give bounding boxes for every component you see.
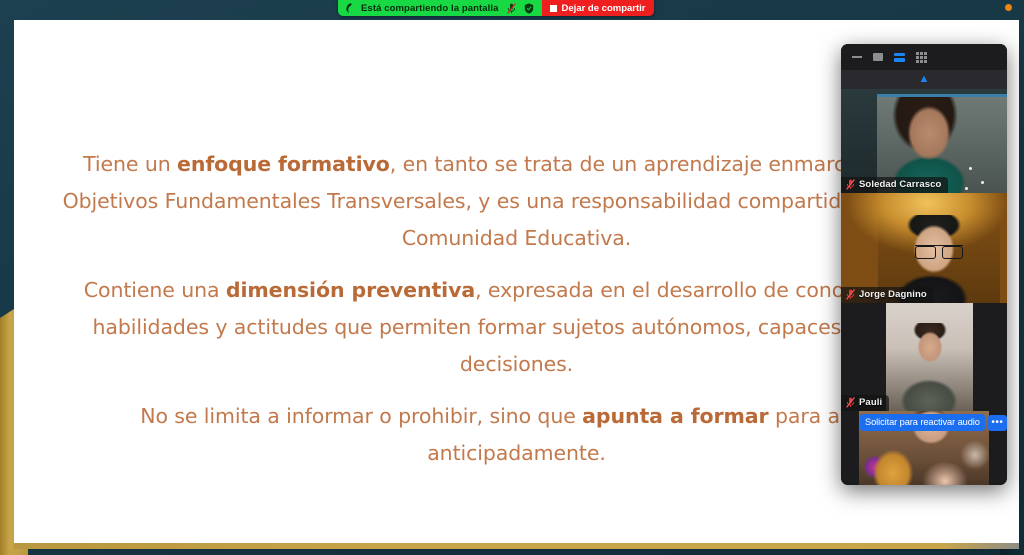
shared-screen-view: Tiene un enfoque formativo, en tanto se … [0,0,1024,555]
participant-name: Soledad Carrasco [859,179,941,190]
request-unmute-button[interactable]: Solicitar para reactivar audio [860,414,985,431]
slide-text-run: No se limita a informar o prohibir, sino… [140,404,582,428]
panel-collapse-bar[interactable]: ▲ [841,70,1007,89]
recording-dot [1005,4,1012,11]
video-feed-detail [915,245,963,256]
more-options-icon[interactable]: ••• [988,415,1007,431]
stop-sharing-label: Dejar de compartir [562,3,646,14]
microphone-muted-icon[interactable] [507,3,516,14]
security-shield-icon[interactable] [524,3,534,14]
video-feed-subject [886,323,973,411]
participant-tile[interactable]: Soledad Carrasco [841,89,1007,193]
slide-text-run: Contiene una [84,278,226,302]
maximize-icon[interactable] [873,53,883,61]
participant-tile[interactable]: Pauli [841,303,1007,411]
microphone-muted-icon [846,179,855,190]
microphone-muted-icon [846,289,855,300]
slide-emphasis: dimensión preventiva [226,278,475,302]
microphone-muted-icon [846,397,855,408]
participant-tile[interactable]: Jorge Dagnino [841,193,1007,303]
slide-gold-accent-bottom [14,543,1019,549]
screen-share-icon [344,3,353,13]
stop-sharing-button[interactable]: Dejar de compartir [542,0,655,16]
video-panel-toolbar[interactable] [841,44,1007,70]
minimize-icon[interactable] [852,56,862,58]
participant-nameplate: Pauli [841,395,889,411]
speaker-view-icon[interactable] [894,53,905,62]
participant-name: Pauli [859,397,882,408]
video-participants-panel[interactable]: ▲ Soledad Carrasco [841,44,1007,485]
slide-text-run: Tiene un [83,152,177,176]
gallery-view-icon[interactable] [916,52,927,63]
participant-nameplate: Soledad Carrasco [841,177,948,193]
stop-square-icon [550,5,557,12]
screen-share-toolbar[interactable]: Está compartiendo la pantalla Dejar de c… [338,0,654,16]
participant-tile[interactable]: Solicitar para reactivar audio ••• [841,411,1007,485]
participant-name: Jorge Dagnino [859,289,927,300]
chevron-up-icon[interactable]: ▲ [919,74,930,85]
request-unmute-group[interactable]: Solicitar para reactivar audio ••• [860,414,1007,431]
participant-nameplate: Jorge Dagnino [841,287,934,303]
slide-emphasis: apunta a formar [582,404,768,428]
share-status-group: Está compartiendo la pantalla [338,0,542,16]
share-status-text: Está compartiendo la pantalla [361,3,499,14]
slide-emphasis: enfoque formativo [177,152,390,176]
